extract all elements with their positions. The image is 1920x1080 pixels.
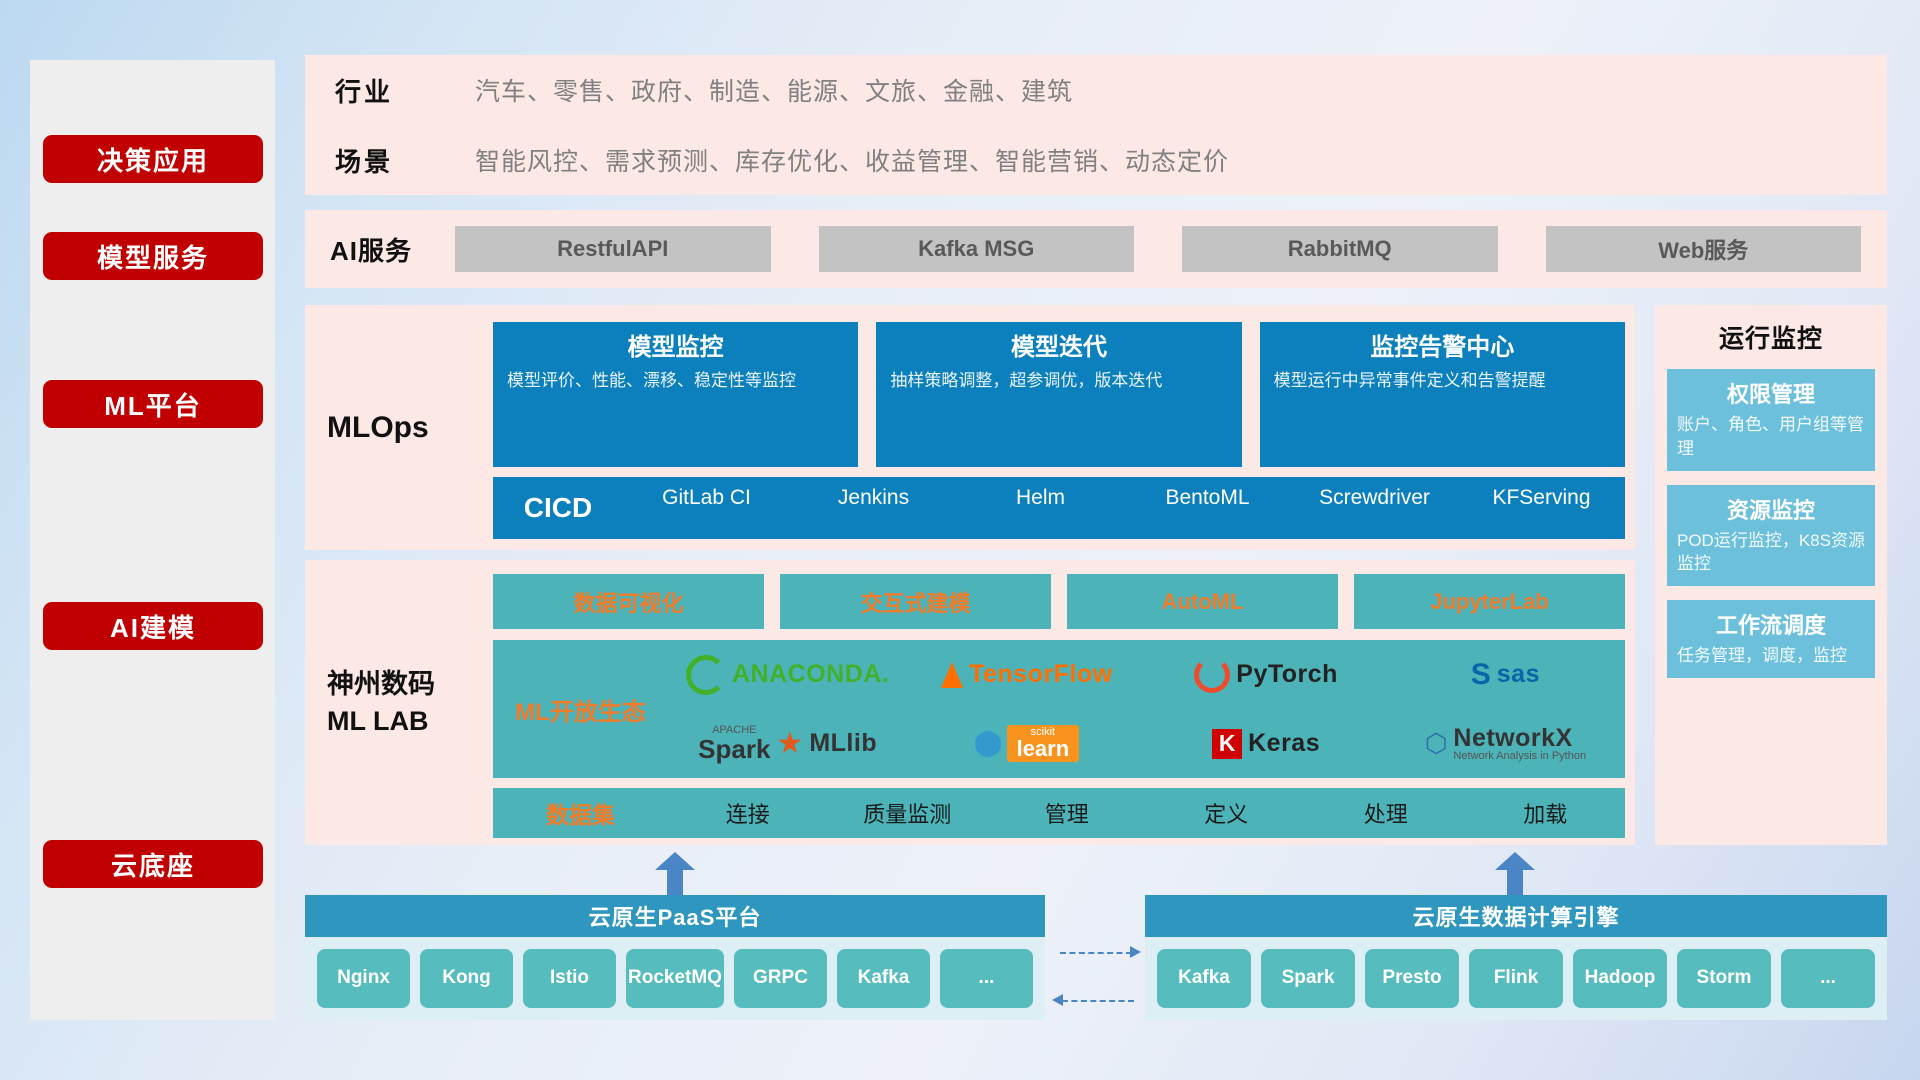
logo-keras: K Keras: [1212, 729, 1320, 759]
cloud-paas-chip-list: Nginx Kong Istio RocketMQ GRPC Kafka ...: [305, 937, 1045, 1020]
monitor-card-resource[interactable]: 资源监控 POD运行监控，K8S资源监控: [1667, 485, 1875, 587]
mlops-card-list: 模型监控 模型评价、性能、漂移、稳定性等监控 模型迭代 抽样策略调整，超参调优，…: [493, 322, 1625, 467]
card-desc: 模型运行中异常事件定义和告警提醒: [1274, 369, 1611, 394]
dataset-label: 数据集: [493, 796, 668, 830]
logo-sas: S sas: [1471, 658, 1540, 692]
rail-item-decision-app[interactable]: 决策应用: [43, 135, 263, 183]
networkx-icon: ⬡: [1425, 728, 1448, 759]
scenario-row: 场景 智能风控、需求预测、库存优化、收益管理、智能营销、动态定价: [305, 125, 1887, 195]
card-title: 监控告警中心: [1274, 332, 1611, 363]
logo-spark-mllib: APACHE Spark ★ MLlib: [698, 725, 877, 762]
dataset-item-loading[interactable]: 加载: [1466, 797, 1626, 829]
cloud-chip-kafka[interactable]: Kafka: [1157, 949, 1251, 1008]
logo-label: MLlib: [809, 729, 877, 758]
cloud-chip-rocketmq[interactable]: RocketMQ: [626, 949, 724, 1008]
cloud-chip-spark[interactable]: Spark: [1261, 949, 1355, 1008]
card-desc: 抽样策略调整，超参调优，版本迭代: [890, 369, 1227, 394]
cloud-paas-title: 云原生PaaS平台: [305, 895, 1045, 937]
cloud-chip-kafka[interactable]: Kafka: [837, 949, 930, 1008]
dataset-row: 数据集 连接 质量监测 管理 定义 处理 加载: [493, 788, 1625, 838]
tool-chip-data-visualization[interactable]: 数据可视化: [493, 574, 764, 629]
cloud-chip-flink[interactable]: Flink: [1469, 949, 1563, 1008]
dataset-item-definition[interactable]: 定义: [1147, 797, 1307, 829]
up-arrow-paas: [655, 852, 695, 896]
runtime-monitor-title: 运行监控: [1655, 305, 1887, 355]
mlops-card-model-iteration[interactable]: 模型迭代 抽样策略调整，超参调优，版本迭代: [876, 322, 1241, 467]
mlops-card-model-monitoring[interactable]: 模型监控 模型评价、性能、漂移、稳定性等监控: [493, 322, 858, 467]
runtime-monitor-panel: 运行监控 权限管理 账户、角色、用户组等管理 资源监控 POD运行监控，K8S资…: [1655, 305, 1887, 845]
cloud-chip-istio[interactable]: Istio: [523, 949, 616, 1008]
card-title: 资源监控: [1677, 493, 1865, 525]
cloud-paas-block: 云原生PaaS平台 Nginx Kong Istio RocketMQ GRPC…: [305, 895, 1045, 1020]
cloud-chip-more[interactable]: ...: [1781, 949, 1875, 1008]
logo-label: TensorFlow: [969, 660, 1112, 689]
rail-item-cloud-base[interactable]: 云底座: [43, 840, 263, 888]
card-desc: 任务管理，调度，监控: [1677, 644, 1865, 668]
monitor-card-permission[interactable]: 权限管理 账户、角色、用户组等管理: [1667, 369, 1875, 471]
tool-chip-automl[interactable]: AutoML: [1067, 574, 1338, 629]
dashed-connector-left: [1062, 1000, 1134, 1002]
ai-service-chip-rabbitmq[interactable]: RabbitMQ: [1182, 226, 1498, 272]
card-title: 工作流调度: [1677, 608, 1865, 640]
logo-label: NetworkX: [1453, 725, 1586, 751]
ai-service-label: AI服务: [305, 231, 455, 268]
mlops-panel: MLOps 模型监控 模型评价、性能、漂移、稳定性等监控 模型迭代 抽样策略调整…: [305, 305, 1635, 550]
card-desc: 模型评价、性能、漂移、稳定性等监控: [507, 369, 844, 394]
mlops-label: MLOps: [327, 305, 482, 550]
rail-item-ml-platform[interactable]: ML平台: [43, 380, 263, 428]
logo-label: Keras: [1248, 729, 1320, 758]
dashed-arrow-right-icon: [1130, 946, 1141, 958]
logo-networkx: ⬡ NetworkX Network Analysis in Python: [1425, 725, 1586, 763]
scikit-learn-badge: scikit learn: [1007, 725, 1080, 762]
cloud-data-engine-block: 云原生数据计算引擎 Kafka Spark Presto Flink Hadoo…: [1145, 895, 1887, 1020]
monitor-card-workflow[interactable]: 工作流调度 任务管理，调度，监控: [1667, 600, 1875, 678]
ml-lab-label-line1: 神州数码: [327, 666, 492, 702]
dashed-connector-right: [1060, 952, 1132, 954]
cloud-chip-storm[interactable]: Storm: [1677, 949, 1771, 1008]
modeling-tool-list: 数据可视化 交互式建模 AutoML JupyterLab: [493, 574, 1625, 629]
networkx-text: NetworkX Network Analysis in Python: [1453, 725, 1586, 763]
rail-item-label: 决策应用: [97, 141, 209, 178]
rail-item-label: AI建模: [110, 608, 196, 645]
ai-service-panel: AI服务 RestfulAPI Kafka MSG RabbitMQ Web服务: [305, 210, 1887, 288]
anaconda-icon: [686, 655, 726, 695]
left-rail: 决策应用 模型服务 ML平台 AI建模 云底座: [30, 60, 275, 1020]
logo-tensorflow: TensorFlow: [941, 660, 1112, 689]
card-title: 模型监控: [507, 332, 844, 363]
card-desc: 账户、角色、用户组等管理: [1677, 413, 1865, 461]
cloud-data-engine-title: 云原生数据计算引擎: [1145, 895, 1887, 937]
cloud-chip-nginx[interactable]: Nginx: [317, 949, 410, 1008]
dashed-arrow-left-icon: [1052, 994, 1063, 1006]
logo-anaconda: ANACONDA.: [686, 655, 889, 695]
ai-modeling-panel: 神州数码 ML LAB 数据可视化 交互式建模 AutoML JupyterLa…: [305, 560, 1635, 845]
dataset-item-connect[interactable]: 连接: [668, 797, 828, 829]
spark-star-icon: ★: [776, 726, 803, 761]
logo-label: learn: [1017, 738, 1070, 760]
rail-item-label: 云底座: [111, 846, 195, 883]
card-title: 模型迭代: [890, 332, 1227, 363]
ai-service-chip-web-service[interactable]: Web服务: [1546, 226, 1862, 272]
industry-scenario-panel: 行业 汽车、零售、政府、制造、能源、文旅、金融、建筑 场景 智能风控、需求预测、…: [305, 55, 1887, 195]
ml-open-ecosystem-row: ML开放生态 ANACONDA. TensorFlow PyTorch S sa…: [493, 640, 1625, 778]
cloud-chip-presto[interactable]: Presto: [1365, 949, 1459, 1008]
scikit-learn-icon: [975, 731, 1001, 757]
ai-service-chip-restfulapi[interactable]: RestfulAPI: [455, 226, 771, 272]
cicd-item-gitlab-ci[interactable]: GitLab CI: [623, 486, 790, 530]
pytorch-icon: [1194, 657, 1230, 693]
dataset-item-quality-monitoring[interactable]: 质量监测: [828, 797, 988, 829]
spark-word: Spark: [698, 736, 770, 762]
ml-lab-label: 神州数码 ML LAB: [327, 560, 492, 845]
cloud-chip-grpc[interactable]: GRPC: [734, 949, 827, 1008]
industry-row: 行业 汽车、零售、政府、制造、能源、文旅、金融、建筑: [305, 55, 1887, 125]
logo-pytorch: PyTorch: [1194, 657, 1338, 693]
cicd-item-bentoml[interactable]: BentoML: [1124, 486, 1291, 530]
ai-service-chip-kafka-msg[interactable]: Kafka MSG: [819, 226, 1135, 272]
mlops-card-alert-center[interactable]: 监控告警中心 模型运行中异常事件定义和告警提醒: [1260, 322, 1625, 467]
architecture-diagram: 决策应用 模型服务 ML平台 AI建模 云底座 行业 汽车、零售、政府、制造、能…: [0, 0, 1920, 1080]
tool-chip-jupyterlab[interactable]: JupyterLab: [1354, 574, 1625, 629]
networkx-subtitle: Network Analysis in Python: [1453, 751, 1586, 763]
logo-scikit-learn: scikit learn: [975, 725, 1080, 762]
logo-label: ANACONDA.: [732, 660, 889, 689]
cloud-chip-hadoop[interactable]: Hadoop: [1573, 949, 1667, 1008]
cicd-item-screwdriver[interactable]: Screwdriver: [1291, 486, 1458, 530]
card-title: 权限管理: [1677, 377, 1865, 409]
cicd-title: CICD: [493, 492, 623, 524]
dataset-item-management[interactable]: 管理: [987, 797, 1147, 829]
sas-icon: S: [1471, 658, 1491, 692]
rail-item-ai-modeling[interactable]: AI建模: [43, 602, 263, 650]
cicd-bar: CICD GitLab CI Jenkins Helm BentoML Scre…: [493, 477, 1625, 539]
tool-chip-interactive-modeling[interactable]: 交互式建模: [780, 574, 1051, 629]
spark-icon: APACHE Spark: [698, 725, 770, 762]
keras-icon: K: [1212, 729, 1242, 759]
logo-label: PyTorch: [1236, 660, 1338, 689]
cloud-data-engine-chip-list: Kafka Spark Presto Flink Hadoop Storm ..…: [1145, 937, 1887, 1020]
ecosystem-logo-grid: ANACONDA. TensorFlow PyTorch S sas APAC: [668, 640, 1625, 778]
logo-label: sas: [1497, 660, 1540, 689]
cicd-item-jenkins[interactable]: Jenkins: [790, 486, 957, 530]
dataset-item-processing[interactable]: 处理: [1306, 797, 1466, 829]
scenario-value: 智能风控、需求预测、库存优化、收益管理、智能营销、动态定价: [475, 142, 1229, 178]
rail-item-model-service[interactable]: 模型服务: [43, 232, 263, 280]
up-arrow-data-engine: [1495, 852, 1535, 896]
ml-lab-label-line2: ML LAB: [327, 703, 492, 739]
tensorflow-icon: [941, 662, 963, 688]
ml-open-ecosystem-label: ML开放生态: [493, 692, 668, 727]
cicd-item-helm[interactable]: Helm: [957, 486, 1124, 530]
cloud-chip-kong[interactable]: Kong: [420, 949, 513, 1008]
industry-label: 行业: [335, 72, 475, 109]
card-desc: POD运行监控，K8S资源监控: [1677, 529, 1865, 577]
industry-value: 汽车、零售、政府、制造、能源、文旅、金融、建筑: [475, 72, 1073, 108]
rail-item-label: ML平台: [104, 386, 202, 423]
cicd-item-kfserving[interactable]: KFServing: [1458, 486, 1625, 530]
ai-service-chip-list: RestfulAPI Kafka MSG RabbitMQ Web服务: [455, 226, 1887, 272]
cloud-chip-more[interactable]: ...: [940, 949, 1033, 1008]
rail-item-label: 模型服务: [97, 238, 209, 275]
scenario-label: 场景: [335, 142, 475, 179]
